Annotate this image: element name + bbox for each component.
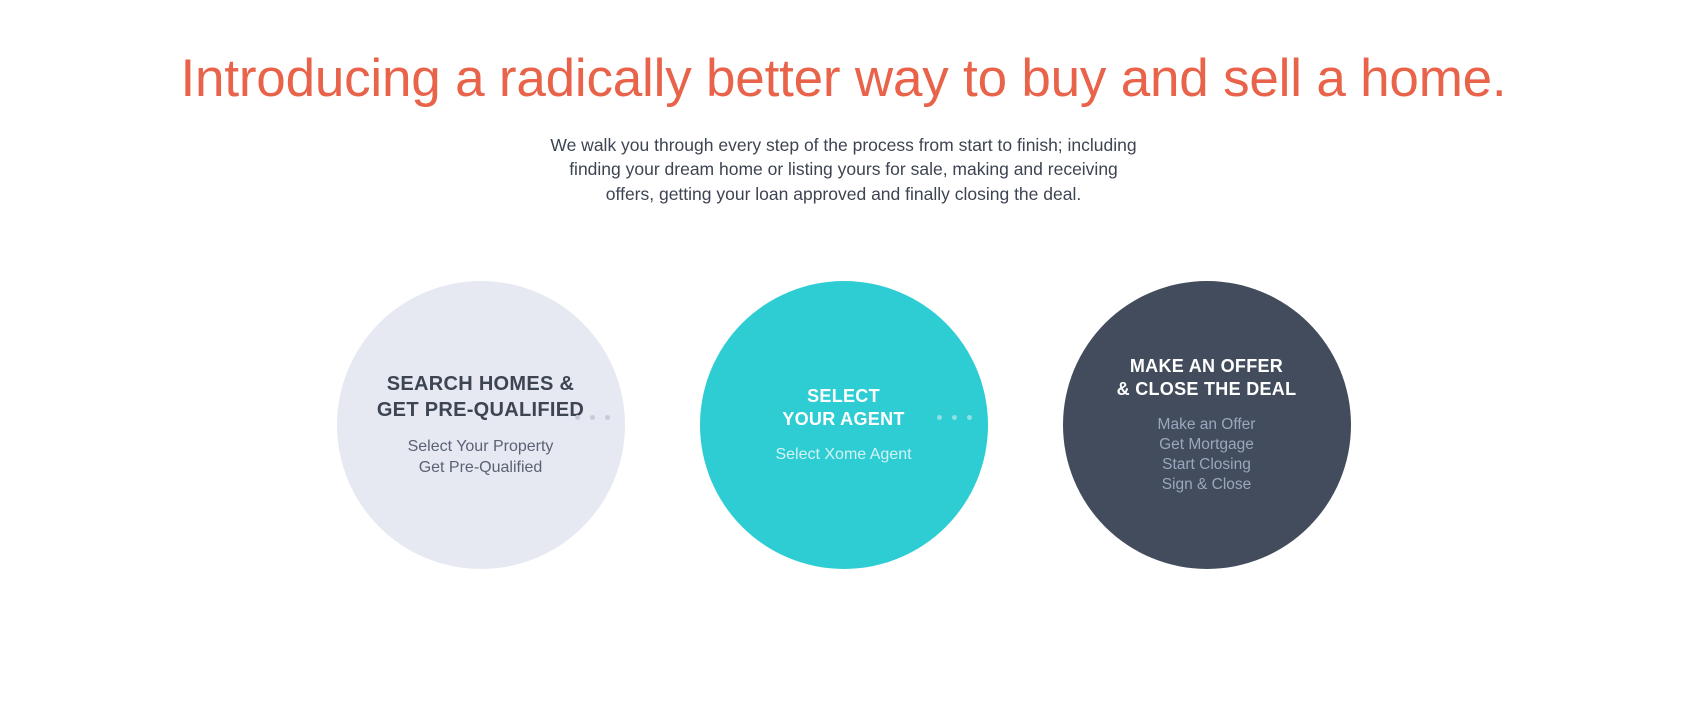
step-item-get-pre-qualified: Get Pre-Qualified — [408, 458, 554, 478]
page-description: We walk you through every step of the pr… — [544, 133, 1144, 208]
step-items-search-homes: Select Your Property Get Pre-Qualified — [408, 437, 554, 478]
page-header: Introducing a radically better way to bu… — [0, 48, 1687, 207]
process-overview-page: Introducing a radically better way to bu… — [0, 0, 1687, 725]
step-circle-make-offer[interactable]: MAKE AN OFFER & CLOSE THE DEAL Make an O… — [1063, 281, 1351, 569]
dot-icon — [590, 415, 595, 420]
step-title-select-agent: SELECT YOUR AGENT — [782, 385, 904, 431]
dot-icon — [575, 415, 580, 420]
step-item-start-closing: Start Closing — [1158, 455, 1256, 475]
connector-step1-step2 — [575, 415, 610, 420]
step-items-make-offer: Make an Offer Get Mortgage Start Closing… — [1158, 415, 1256, 494]
step-item-get-mortgage: Get Mortgage — [1158, 435, 1256, 455]
step-circle-select-agent[interactable]: SELECT YOUR AGENT Select Xome Agent — [700, 281, 988, 569]
step-item-sign-and-close: Sign & Close — [1158, 475, 1256, 495]
step-circle-search-homes[interactable]: SEARCH HOMES & GET PRE-QUALIFIED Select … — [337, 281, 625, 569]
step-title-search-homes: SEARCH HOMES & GET PRE-QUALIFIED — [377, 372, 584, 423]
dot-icon — [937, 415, 942, 420]
step-items-select-agent: Select Xome Agent — [775, 445, 911, 465]
step-item-select-your-property: Select Your Property — [408, 437, 554, 457]
process-steps: SEARCH HOMES & GET PRE-QUALIFIED Select … — [0, 275, 1687, 575]
dot-icon — [967, 415, 972, 420]
step-item-make-an-offer: Make an Offer — [1158, 415, 1256, 435]
step-item-select-xome-agent: Select Xome Agent — [775, 445, 911, 465]
dot-icon — [605, 415, 610, 420]
connector-step2-step3 — [937, 415, 972, 420]
page-title: Introducing a radically better way to bu… — [0, 48, 1687, 111]
step-title-make-offer: MAKE AN OFFER & CLOSE THE DEAL — [1117, 355, 1297, 401]
dot-icon — [952, 415, 957, 420]
